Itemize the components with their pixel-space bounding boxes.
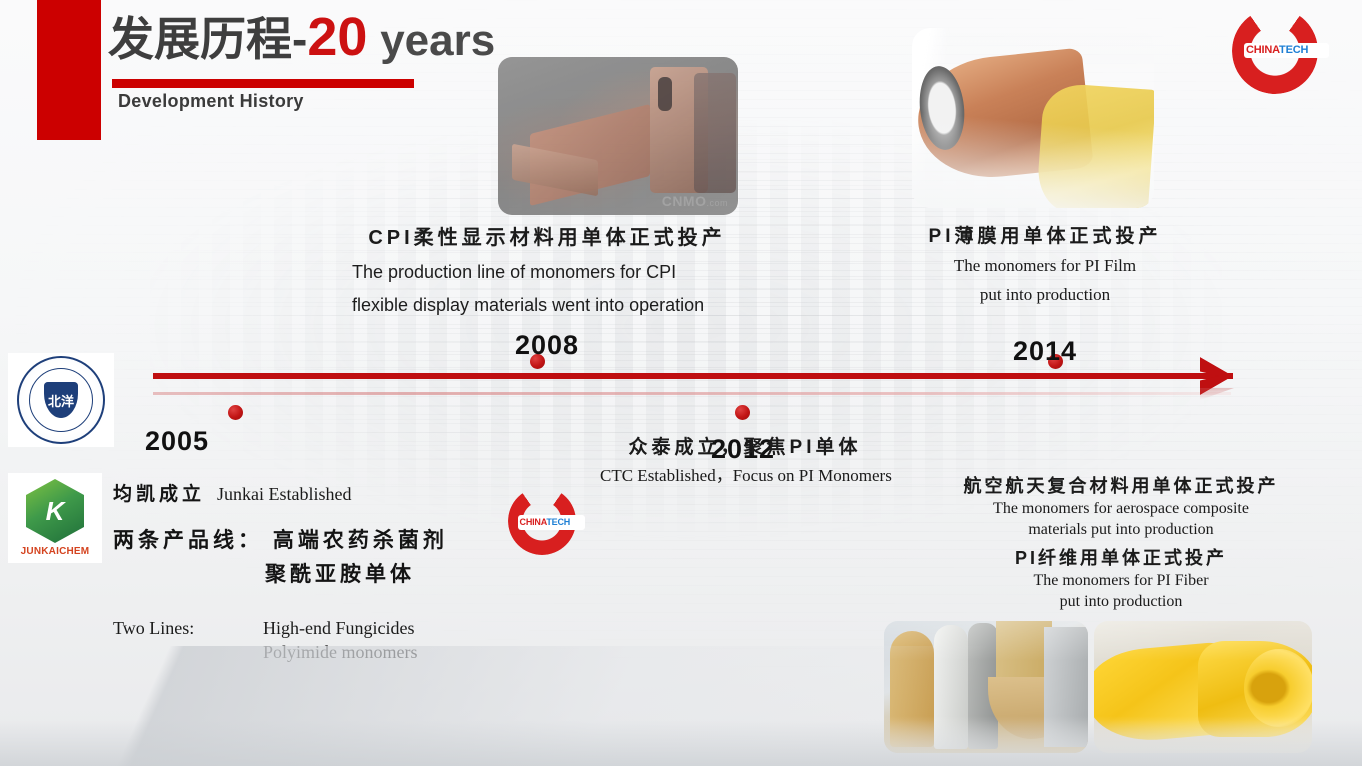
foldable-phone-front-shape (694, 73, 736, 193)
logo-word-china: CHINA (520, 517, 547, 527)
event-2005-cn-line2: 聚酰亚胺单体 (265, 558, 583, 588)
event-2014-en-line1: The monomers for PI Film (900, 254, 1190, 277)
aerospace-composite-photo (884, 621, 1088, 753)
event-fiber-cn-title: PI纤维用单体正式投产 (925, 544, 1317, 570)
event-2012: 众泰成立，聚焦PI单体 CTC Established，Focus on PI … (600, 432, 890, 486)
event-2005-row-lines-en: Two Lines:High-end Fungicides (113, 618, 583, 639)
event-2005-en-label: Two Lines: (113, 618, 263, 639)
logo-word-tech: TECH (546, 517, 570, 527)
event-2008-cn-title: CPI柔性显示材料用单体正式投产 (352, 221, 742, 250)
event-2012-en-title: CTC Established，Focus on PI Monomers (600, 461, 890, 486)
event-2008-year: 2008 (352, 330, 742, 361)
logo-wordmark: CHINATECH (518, 515, 586, 530)
watermark-text: CNMO (662, 193, 707, 209)
logo-word-tech: TECH (1279, 44, 1308, 56)
page-subtitle: Development History (118, 91, 304, 112)
event-2014-cn-title: PI薄膜用单体正式投产 (900, 221, 1190, 248)
page-title-years: years (380, 16, 495, 65)
event-aerospace-fiber: 航空航天复合材料用单体正式投产 The monomers for aerospa… (925, 472, 1317, 612)
chinatech-logo-inline[interactable]: CHINATECH (508, 487, 576, 555)
slide-canvas: 发展历程-20 years Development History CHINAT… (0, 0, 1362, 766)
junkaichem-logo: K JUNKAICHEM (8, 473, 102, 563)
pi-film-roll-photo (912, 28, 1154, 208)
seal-text-ring-icon (19, 358, 103, 442)
photo-glare (884, 621, 1088, 753)
event-2014-year: 2014 (900, 336, 1190, 367)
event-aerospace-en-line2: materials put into production (925, 519, 1317, 540)
event-2012-cn-title: 众泰成立，聚焦PI单体 (600, 432, 890, 459)
title-underline (112, 79, 414, 88)
photo-glare (1094, 621, 1312, 753)
event-2014: PI薄膜用单体正式投产 The monomers for PI Film put… (900, 221, 1190, 367)
event-2005-en-value1: High-end Fungicides (263, 618, 414, 638)
pi-fiber-fabric-photo (1094, 621, 1312, 753)
event-2008-en-line2: flexible display materials went into ope… (352, 295, 742, 316)
timeline-dot-2005[interactable] (228, 405, 243, 420)
event-fiber-en-line1: The monomers for PI Fiber (925, 570, 1317, 591)
camera-module-icon (658, 77, 672, 111)
timeline-dot-2012[interactable] (735, 405, 750, 420)
page-title: 发展历程-20 years (108, 6, 495, 72)
seal-outer-ring-icon: 北洋 (17, 356, 105, 444)
timeline-axis-reflection (153, 392, 1231, 395)
event-2005-cn-title: 均凯成立 (113, 484, 205, 505)
logo-wordmark: CHINATECH (1244, 43, 1329, 58)
event-2005-en-title: Junkai Established (217, 484, 351, 504)
event-2008-en-line1: The production line of monomers for CPI (352, 262, 742, 283)
page-title-cn: 发展历程- (108, 13, 307, 65)
header-red-block (37, 0, 101, 140)
event-2005-en-value2: Polyimide monomers (263, 642, 583, 663)
page-title-number: 20 (307, 7, 367, 67)
event-2014-en-line2: put into production (900, 283, 1190, 306)
junkaichem-label: JUNKAICHEM (21, 546, 90, 557)
event-2005-year: 2005 (113, 426, 241, 457)
hexagon-k-icon: K (26, 479, 84, 543)
chinatech-logo[interactable]: CHINATECH (1232, 8, 1318, 94)
event-2005-cn-line1: 两条产品线： 高端农药杀菌剂 (113, 529, 448, 552)
foldable-device-photo: CNMO.com (498, 57, 738, 215)
event-2008: CPI柔性显示材料用单体正式投产 The production line of … (352, 221, 742, 361)
watermark-suffix: .com (706, 198, 728, 208)
event-fiber-en-line2: put into production (925, 591, 1317, 612)
photo-watermark: CNMO.com (662, 193, 728, 209)
film-photo-fade (912, 28, 1154, 208)
tianjin-university-seal: 北洋 (8, 353, 114, 447)
logo-word-china: CHINA (1246, 44, 1279, 56)
timeline-axis (153, 373, 1233, 379)
event-aerospace-cn-title: 航空航天复合材料用单体正式投产 (925, 472, 1317, 498)
event-aerospace-en-line1: The monomers for aerospace composite (925, 498, 1317, 519)
